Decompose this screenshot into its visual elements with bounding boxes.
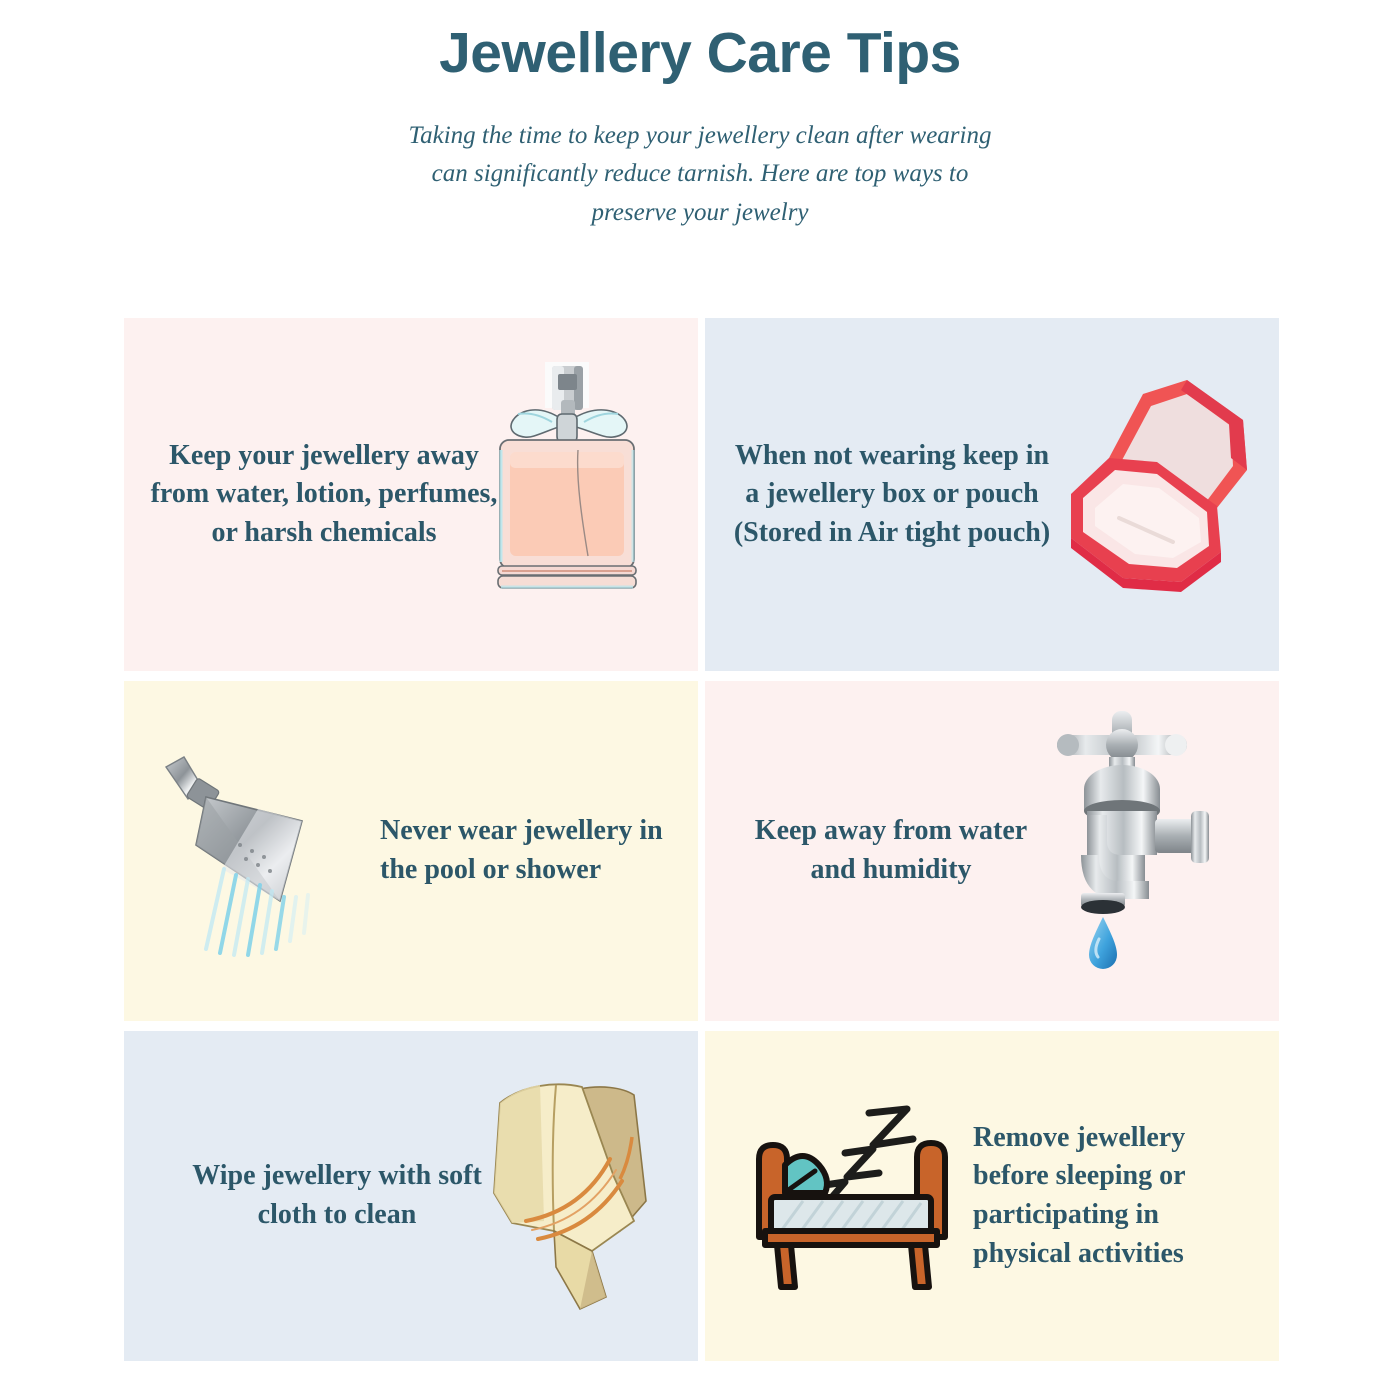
page-subtitle: Taking the time to keep your jewellery c…	[390, 117, 1010, 233]
tip-text: Remove jewellery before sleeping or part…	[973, 1119, 1253, 1274]
tip-card-ring-box: When not wearing keep in a jewellery box…	[705, 318, 1279, 671]
faucet-icon	[1037, 711, 1227, 981]
tip-text: Keep away from water and humidity	[731, 812, 1051, 889]
tip-text: Wipe jewellery with soft cloth to clean	[172, 1157, 502, 1234]
page-title: Jewellery Care Tips	[0, 22, 1400, 85]
tip-card-faucet: Keep away from water and humidity	[705, 681, 1279, 1021]
cloth-towel-icon	[482, 1081, 662, 1311]
tip-text: Never wear jewellery in the pool or show…	[380, 812, 680, 889]
infographic-page: Jewellery Care Tips Taking the time to k…	[0, 0, 1400, 1400]
tip-text: Keep your jewellery away from water, lot…	[144, 437, 504, 553]
tips-grid: Keep your jewellery away from water, lot…	[124, 318, 1275, 1358]
header: Jewellery Care Tips Taking the time to k…	[0, 0, 1400, 233]
tip-card-perfume: Keep your jewellery away from water, lot…	[124, 318, 698, 671]
tip-card-cloth: Wipe jewellery with soft cloth to clean	[124, 1031, 698, 1361]
bed-sleep-icon	[741, 1089, 961, 1299]
tip-text: When not wearing keep in a jewellery box…	[727, 437, 1057, 553]
tip-card-bed: Remove jewellery before sleeping or part…	[705, 1031, 1279, 1361]
perfume-bottle-icon	[482, 360, 652, 610]
tip-card-shower: Never wear jewellery in the pool or show…	[124, 681, 698, 1021]
shower-head-icon	[162, 749, 362, 959]
ring-box-icon	[1061, 366, 1261, 586]
